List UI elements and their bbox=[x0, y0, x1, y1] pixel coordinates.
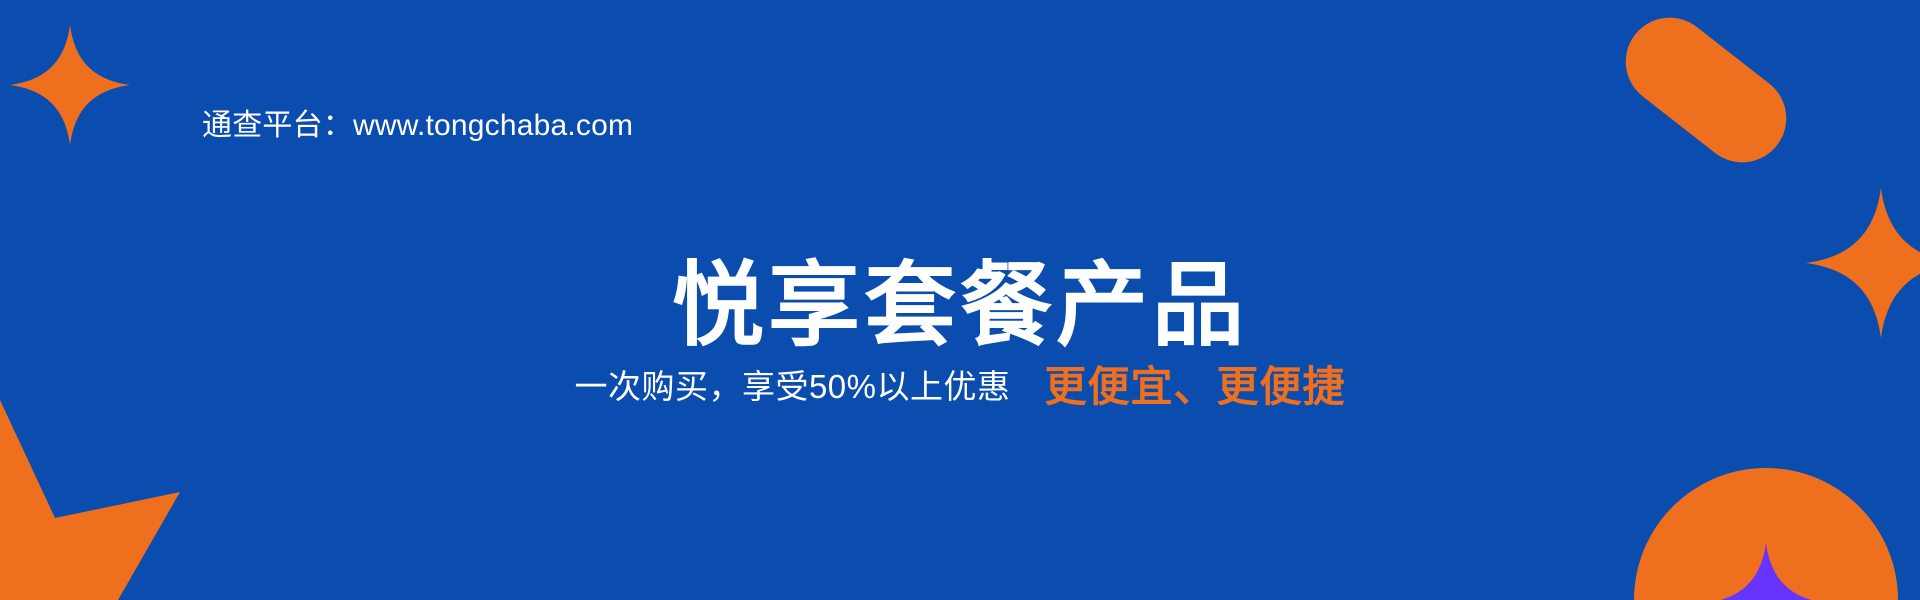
site-line: 通查平台：www.tongchaba.com bbox=[202, 108, 633, 144]
subtitle-accent: 更便宜、更便捷 bbox=[1045, 363, 1346, 410]
banner-content: 通查平台：www.tongchaba.com 悦享套餐产品 一次购买，享受50%… bbox=[0, 0, 1920, 600]
promo-banner: 通查平台：www.tongchaba.com 悦享套餐产品 一次购买，享受50%… bbox=[0, 0, 1920, 600]
site-label: 通查平台： bbox=[202, 109, 353, 142]
site-url: www.tongchaba.com bbox=[353, 109, 633, 142]
subtitle-line: 一次购买，享受50%以上优惠更便宜、更便捷 bbox=[0, 360, 1920, 415]
page-title: 悦享套餐产品 bbox=[0, 258, 1920, 355]
subtitle-plain: 一次购买，享受50%以上优惠 bbox=[574, 368, 1010, 405]
